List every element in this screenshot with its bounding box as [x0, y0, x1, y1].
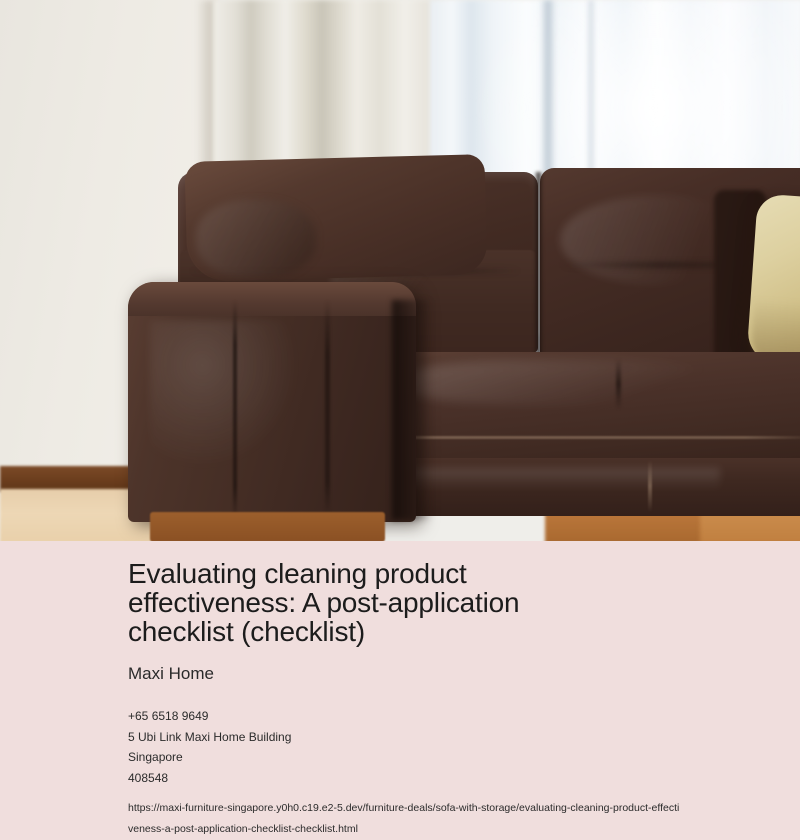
- sofa-base-stitching: [648, 460, 652, 512]
- back-cushion-seam: [534, 172, 543, 368]
- armrest-highlight: [150, 320, 300, 470]
- armrest-seam-side: [325, 300, 330, 515]
- armrest-seam-front: [233, 300, 237, 520]
- seat-highlight: [400, 360, 730, 405]
- contact-block: +65 6518 9649 5 Ubi Link Maxi Home Build…: [128, 706, 760, 788]
- armrest-top: [128, 282, 416, 316]
- info-content: Evaluating cleaning product effectivenes…: [128, 559, 760, 840]
- contact-city: Singapore: [128, 747, 760, 768]
- page-title: Evaluating cleaning product effectivenes…: [128, 559, 598, 646]
- contact-postal-code: 408548: [128, 768, 760, 789]
- headrest-fold: [196, 200, 316, 278]
- armrest-inner-shadow: [392, 300, 432, 520]
- sofa-wooden-foot: [150, 512, 385, 541]
- seat-seam: [616, 358, 621, 410]
- contact-address-line: 5 Ubi Link Maxi Home Building: [128, 727, 760, 748]
- info-panel: Evaluating cleaning product effectivenes…: [0, 541, 800, 840]
- page-url[interactable]: https://maxi-furniture-singapore.y0h0.c1…: [128, 798, 684, 840]
- brand-name: Maxi Home: [128, 664, 760, 684]
- page-root: Evaluating cleaning product effectivenes…: [0, 0, 800, 840]
- contact-phone[interactable]: +65 6518 9649: [128, 706, 760, 727]
- hero-photo: [0, 0, 800, 541]
